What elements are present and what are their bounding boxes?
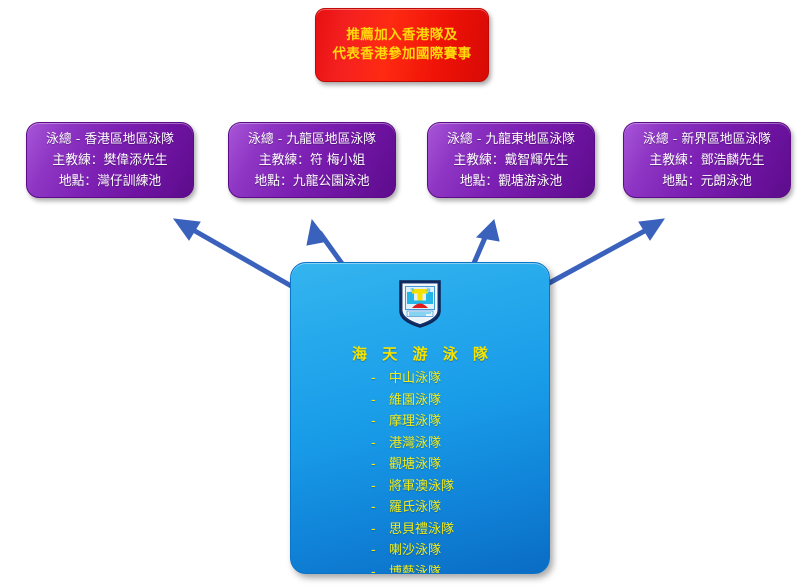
list-item[interactable]: - 喇沙泳隊 [291, 539, 549, 561]
bullet-dash: - [355, 393, 389, 408]
district-venue: 地點：元朗泳池 [662, 171, 752, 192]
svg-text:海: 海 [426, 287, 431, 294]
district-title: 泳總 - 九龍東地區泳隊 [447, 129, 575, 150]
arrow-to-district-4 [540, 219, 664, 288]
team-name: 羅氏泳隊 [389, 496, 485, 515]
root-node-line-1: 推薦加入香港隊及 [346, 26, 457, 45]
list-item[interactable]: - 中山泳隊 [291, 367, 549, 389]
bullet-dash: - [355, 457, 389, 472]
district-venue: 地點：灣仔訓練池 [59, 171, 161, 192]
club-node-hoi-tin-swimming-club[interactable]: 天 海 海 天 游 泳 隊 - 中山泳隊 - 維園泳隊 - 摩理泳隊 [290, 262, 550, 574]
root-node-line-2: 代表香港參加國際賽事 [333, 45, 472, 64]
team-name: 思貝禮泳隊 [389, 518, 485, 537]
diagram-canvas: 推薦加入香港隊及 代表香港參加國際賽事 泳總 - 香港區地區泳隊 主教練：樊偉添… [0, 0, 799, 587]
team-name: 將軍澳泳隊 [389, 475, 485, 494]
district-coach: 主教練：樊偉添先生 [52, 150, 167, 171]
team-name: 中山泳隊 [389, 367, 485, 386]
district-node-new-territories[interactable]: 泳總 - 新界區地區泳隊 主教練：鄧浩麟先生 地點：元朗泳池 [623, 122, 791, 198]
team-name: 維園泳隊 [389, 389, 485, 408]
district-title: 泳總 - 九龍區地區泳隊 [248, 129, 376, 150]
team-name: 博藝泳隊 [389, 561, 485, 575]
list-item[interactable]: - 思貝禮泳隊 [291, 518, 549, 540]
bullet-dash: - [355, 522, 389, 537]
root-node-hk-team[interactable]: 推薦加入香港隊及 代表香港參加國際賽事 [315, 8, 489, 82]
bullet-dash: - [355, 414, 389, 429]
team-name: 觀塘泳隊 [389, 453, 485, 472]
district-node-kowloon[interactable]: 泳總 - 九龍區地區泳隊 主教練：符 梅小姐 地點：九龍公園泳池 [228, 122, 396, 198]
district-node-kowloon-east[interactable]: 泳總 - 九龍東地區泳隊 主教練：戴智輝先生 地點：觀塘游泳池 [427, 122, 595, 198]
list-item[interactable]: - 羅氏泳隊 [291, 496, 549, 518]
list-item[interactable]: - 摩理泳隊 [291, 410, 549, 432]
list-item[interactable]: - 博藝泳隊 [291, 561, 549, 575]
list-item[interactable]: - 將軍澳泳隊 [291, 475, 549, 497]
district-venue: 地點：觀塘游泳池 [460, 171, 562, 192]
bullet-dash: - [355, 565, 389, 575]
svg-text:天: 天 [410, 288, 415, 294]
district-venue: 地點：九龍公園泳池 [254, 171, 369, 192]
district-coach: 主教練：戴智輝先生 [453, 150, 568, 171]
bullet-dash: - [355, 371, 389, 386]
bullet-dash: - [355, 543, 389, 558]
club-title: 海 天 游 泳 隊 [291, 343, 549, 364]
org-tree-connector [109, 80, 706, 122]
district-node-hong-kong-island[interactable]: 泳總 - 香港區地區泳隊 主教練：樊偉添先生 地點：灣仔訓練池 [26, 122, 194, 198]
district-coach: 主教練：鄧浩麟先生 [649, 150, 764, 171]
bullet-dash: - [355, 479, 389, 494]
team-name: 摩理泳隊 [389, 410, 485, 429]
list-item[interactable]: - 維園泳隊 [291, 389, 549, 411]
club-crest-icon: 天 海 [396, 277, 444, 329]
list-item[interactable]: - 港灣泳隊 [291, 432, 549, 454]
district-title: 泳總 - 香港區地區泳隊 [46, 129, 174, 150]
team-name: 港灣泳隊 [389, 432, 485, 451]
bullet-dash: - [355, 436, 389, 451]
bullet-dash: - [355, 500, 389, 515]
list-item[interactable]: - 觀塘泳隊 [291, 453, 549, 475]
arrow-to-district-1 [174, 219, 300, 291]
club-team-list: - 中山泳隊 - 維園泳隊 - 摩理泳隊 - 港灣泳隊 - 觀塘泳隊 - 將軍澳… [291, 367, 549, 574]
team-name: 喇沙泳隊 [389, 539, 485, 558]
district-coach: 主教練：符 梅小姐 [259, 150, 365, 171]
district-title: 泳總 - 新界區地區泳隊 [643, 129, 771, 150]
